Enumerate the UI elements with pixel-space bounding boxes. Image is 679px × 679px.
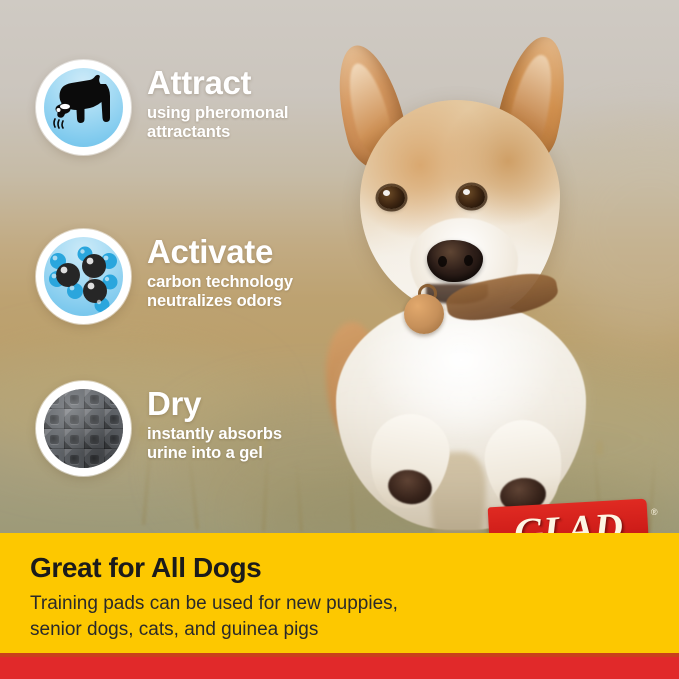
feature-item-dry: Dry instantly absorbs urine into a gel xyxy=(36,381,282,476)
bottom-banner: Great for All Dogs Training pads can be … xyxy=(0,533,679,653)
feature-heading: Dry xyxy=(147,387,282,421)
feature-subtext-line2: urine into a gel xyxy=(147,444,282,463)
feature-subtext: instantly absorbs urine into a gel xyxy=(147,425,282,464)
banner-title: Great for All Dogs xyxy=(30,552,261,584)
feature-subtext-line2: neutralizes odors xyxy=(147,292,293,311)
feature-subtext-line2: attractants xyxy=(147,123,288,142)
feature-subtext-line1: carbon technology xyxy=(147,273,293,292)
banner-body: Training pads can be used for new puppie… xyxy=(30,591,398,642)
feature-item-attract: Attract using pheromonal attractants xyxy=(36,60,288,155)
registered-trademark-icon: ® xyxy=(651,507,658,517)
feature-subtext: carbon technology neutralizes odors xyxy=(147,273,293,312)
feature-icon-attract xyxy=(36,60,131,155)
feature-item-activate: Activate carbon technology neutralizes o… xyxy=(36,229,293,324)
bottom-red-strip xyxy=(0,657,679,679)
feature-subtext: using pheromonal attractants xyxy=(147,104,288,143)
feature-icon-activate xyxy=(36,229,131,324)
banner-body-line2: senior dogs, cats, and guinea pigs xyxy=(30,617,398,643)
feature-heading: Activate xyxy=(147,235,293,269)
feature-heading: Attract xyxy=(147,66,288,100)
carbon-molecule-icon xyxy=(44,237,123,316)
dog-sniffing-icon xyxy=(44,68,123,147)
feature-subtext-line1: instantly absorbs xyxy=(147,425,282,444)
product-feature-image: Attract using pheromonal attractants xyxy=(0,0,679,679)
banner-body-line1: Training pads can be used for new puppie… xyxy=(30,591,398,617)
feature-list: Attract using pheromonal attractants xyxy=(0,0,360,533)
feature-subtext-line1: using pheromonal xyxy=(147,104,288,123)
feature-icon-dry xyxy=(36,381,131,476)
dog-photo-subject xyxy=(318,22,678,533)
